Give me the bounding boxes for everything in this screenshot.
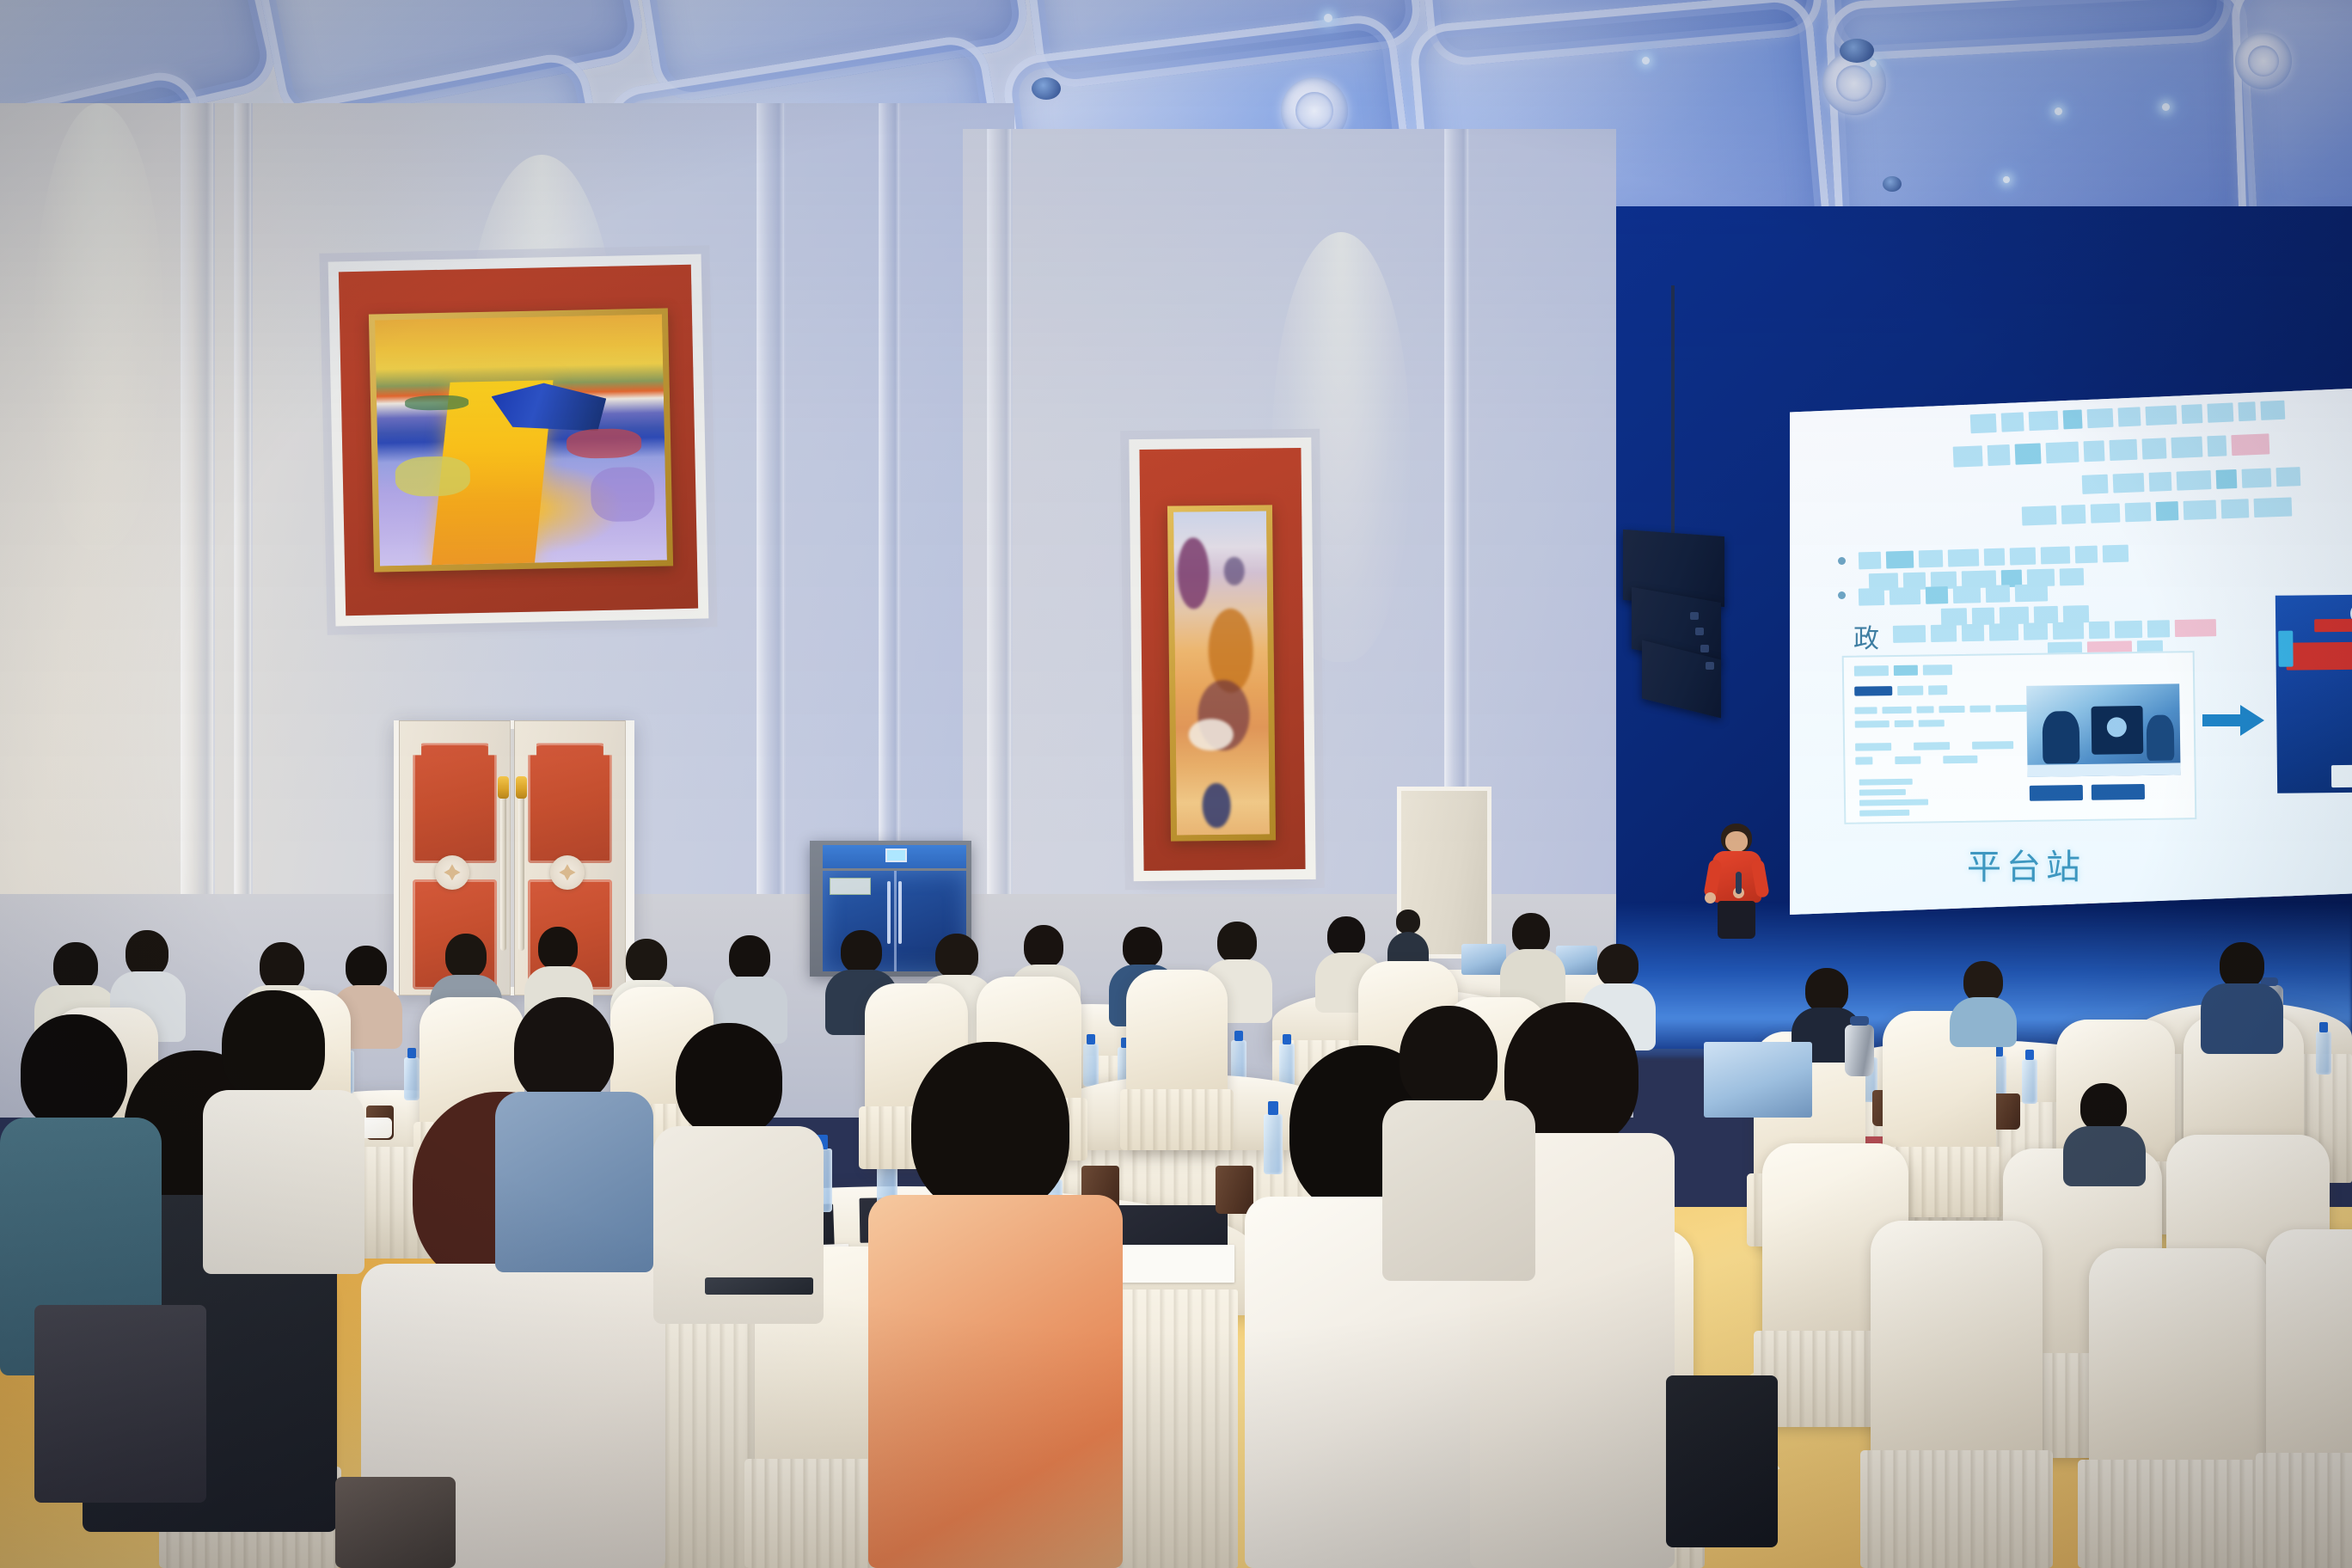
slide-flow-arrow-icon [2202,705,2264,736]
person-head [53,942,98,990]
person-head [676,1023,782,1136]
card-list-pixels [1859,810,1909,817]
slide-heading-pixels [2022,498,2293,526]
person-head [21,1014,127,1130]
paint-dab [567,428,642,459]
audience-member-foreground [1382,1006,1537,1281]
presenter-hand [1705,892,1716,903]
ceiling-recess-fixture [1032,77,1061,100]
projection-screen: 政 [1790,389,2352,915]
audience-laptop[interactable] [1704,1042,1812,1118]
paint-dab [395,456,470,497]
person-head [260,942,304,990]
slide-subheading: 政 [1853,617,1882,655]
audience-member [2063,1083,2146,1186]
presenter-microphone [1736,872,1742,894]
person-head [1123,927,1162,968]
door-panel [528,743,611,863]
speaker-rigging-vent [1706,662,1714,670]
speaker-rigging-vent [1695,628,1704,635]
line-array-speaker [1614,285,1743,724]
card-tag-badge [1854,686,1892,696]
person-head [1597,944,1638,987]
person-head [1963,961,2003,1002]
cooler-label [830,878,872,896]
paint-stroke [1208,608,1253,692]
presenter-skirt [1718,901,1755,939]
audience-member [2201,942,2283,1054]
ceiling-recess-fixture [1883,176,1902,192]
slide-bullet-text-pixels [1859,545,2128,570]
tea-cup [1993,1093,2020,1130]
paint-stroke [1178,537,1210,609]
presenter-on-stage [1699,824,1773,937]
audience-member-foreground [495,997,655,1272]
water-bottle [2316,1032,2331,1075]
person-head [346,946,387,989]
person-torso [495,1092,653,1272]
banquet-chair[interactable] [2266,1229,2352,1568]
card-body-pixels [1854,705,2026,714]
card-button-primary[interactable] [2030,785,2083,801]
slide-bullet-text-pixels [1859,584,2048,605]
backpack [34,1305,206,1503]
ceiling-downlight [2003,176,2010,183]
person-head [514,997,614,1104]
artwork-landscape-canvas [375,315,667,567]
slide-bullet-marker [1838,591,1846,599]
card-photo [2026,683,2180,776]
presenter-face [1725,831,1748,852]
door-handle-left[interactable] [500,787,506,951]
person-torso [868,1195,1123,1568]
speaker-rigging-vent [1690,612,1699,620]
door-handle-cap [498,776,509,799]
ceiling-downlight [1870,60,1877,67]
door-panel [413,743,496,863]
card-button-secondary[interactable] [2092,784,2145,800]
banquet-chair[interactable] [1126,970,1228,1150]
person-head [1396,910,1420,934]
slide-surface: 政 [1790,389,2352,915]
audience-member-foreground [868,1042,1126,1568]
person-head [841,930,882,973]
person-head [1512,913,1550,952]
person-head [1805,968,1848,1013]
ceiling-downlight [1324,14,1332,22]
person-head [2220,942,2264,989]
person-head [935,934,978,978]
person-head [1400,1006,1498,1111]
door-handle-cap [516,776,527,799]
slide-heading-pixels [1953,433,2270,467]
ceiling-downlight [2162,103,2170,111]
artwork-vertical-frame [1167,505,1276,841]
card-tag-pixels [1897,685,1947,695]
person-head [1024,925,1063,968]
artwork-landscape-frame [369,308,673,572]
ceiling-downlight [1642,57,1650,64]
slide-screenshot-card [1842,651,2197,824]
slide-heading-pixels [2082,467,2301,494]
person-head [729,935,770,980]
person-torso [1950,997,2017,1047]
audience-member [1500,913,1565,1009]
slide-bullet-marker [1838,557,1846,565]
card-stat-pixels [1855,741,2013,751]
audience-member [1950,961,2017,1047]
person-torso [1382,1100,1535,1281]
door-medallion [435,855,469,890]
handbag [335,1477,456,1568]
card-list-pixels [1859,799,1928,805]
person-torso [203,1090,364,1274]
app-banner [2286,642,2352,671]
ceiling-downlight [2055,107,2062,115]
person-head [222,990,325,1102]
paint-dab [405,395,469,411]
conference-hall-photograph: 政 [0,0,2352,1568]
person-torso [2063,1126,2146,1186]
person-head [626,939,667,983]
door-handle-right[interactable] [518,787,524,951]
card-stat-pixels [1855,756,1977,765]
card-body-pixels [1855,720,1945,727]
ceiling-rosette [2235,33,2292,89]
slide-caption: 平台站 [1967,839,2086,889]
artwork-vertical-canvas [1173,511,1270,835]
app-footer-chip [2331,764,2352,787]
person-head [538,927,578,970]
person-head [911,1042,1069,1214]
app-side-chip [2278,631,2293,667]
slide-heading-pixels [1970,401,2286,434]
tote-bag [1666,1375,1778,1547]
person-head [126,930,168,977]
cooler-display [885,848,906,862]
slide-app-screenshot [2275,594,2352,793]
banquet-chair[interactable] [1871,1221,2043,1568]
app-banner [2314,618,2352,632]
paint-dab [591,467,655,522]
banquet-chair[interactable] [2089,1248,2269,1568]
thermos-carafe [1845,1025,1874,1076]
card-title-pixels [1854,665,1952,677]
cooler-handle[interactable] [898,881,902,944]
card-list-pixels [1859,789,1906,796]
door-medallion [550,855,585,890]
person-head [2080,1083,2127,1131]
paint-stroke [1203,783,1231,829]
wall-wash-light [34,103,163,550]
speaker-suspension-cable [1671,285,1675,536]
person-torso [2201,983,2283,1054]
person-head [1217,922,1257,963]
card-list-pixels [1859,779,1913,786]
audience-member-foreground [203,990,366,1274]
person-head [1327,916,1365,956]
person-head [445,934,487,978]
water-bottle [2022,1059,2037,1104]
speaker-rigging-vent [1700,645,1709,652]
smartphone[interactable] [705,1277,813,1295]
ceiling-recess-fixture [1840,39,1874,63]
